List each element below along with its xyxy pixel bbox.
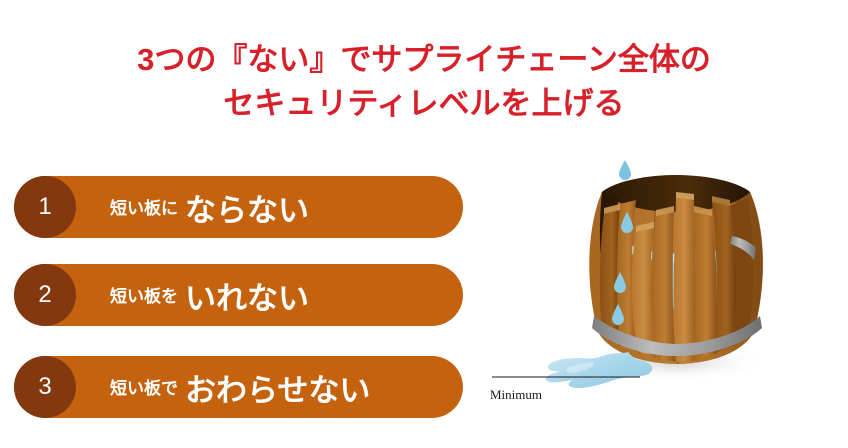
list-item-number: 2 [38,283,51,307]
list-item-emphasis: ならない [185,185,309,230]
list-item-emphasis: いれない [185,273,309,318]
list-item-number: 3 [38,375,51,399]
list-item-number-badge: 2 [14,264,76,326]
list-item-prefix: 短い板で [110,374,178,401]
list-item[interactable]: 2 短い板を いれない [14,264,463,326]
list-item-label: 短い板を いれない [110,264,309,326]
slide-canvas: 3つの『ない』でサプライチェーン全体の セキュリティレベルを上げる 1 短い板に… [0,0,848,448]
barrel-figure: Minimum セキュリティの樽 [480,140,848,448]
list-item[interactable]: 3 短い板で おわらせない [14,356,463,418]
minimum-label: Minimum [490,387,542,403]
list-item-label: 短い板で おわらせない [110,356,370,418]
list-item-number-badge: 1 [14,176,76,238]
list-item-prefix: 短い板に [110,194,178,221]
page-title-line-1: 3つの『ない』でサプライチェーン全体の [0,38,848,82]
list-item-emphasis: おわらせない [185,365,370,410]
page-title-line-2: セキュリティレベルを上げる [0,82,848,126]
list-item-number-badge: 3 [14,356,76,418]
list-item-number: 1 [38,195,51,219]
list-item-prefix: 短い板を [110,282,178,309]
list-item-label: 短い板に ならない [110,176,309,238]
water-drop-icon [619,160,631,180]
page-title: 3つの『ない』でサプライチェーン全体の セキュリティレベルを上げる [0,38,848,126]
list-item[interactable]: 1 短い板に ならない [14,176,463,238]
